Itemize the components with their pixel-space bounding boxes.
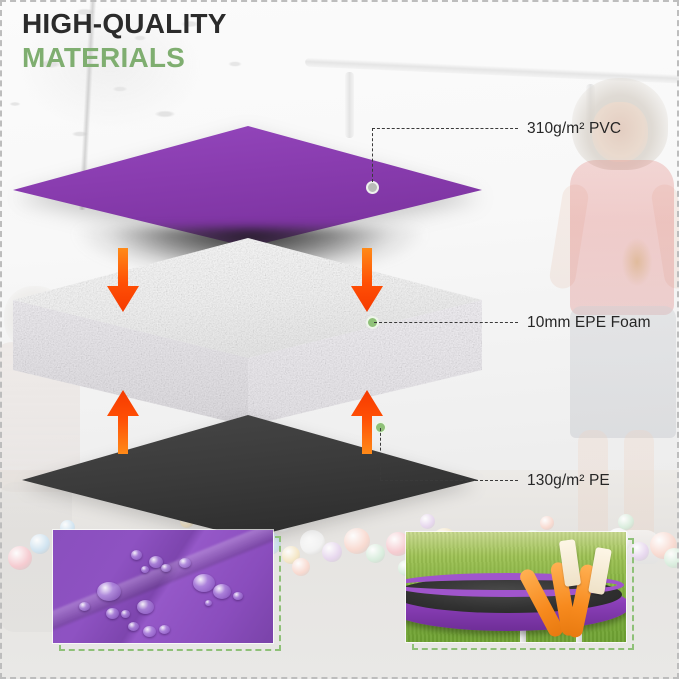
- arrow-up-left: [106, 388, 140, 454]
- callout-label-epe-foam: 10mm EPE Foam: [527, 314, 651, 332]
- water-droplet: [233, 592, 243, 600]
- inset-trampoline-photo: [405, 531, 627, 643]
- water-droplet: [79, 602, 90, 611]
- callout-marker-pvc: [366, 181, 379, 194]
- water-droplet: [106, 608, 119, 619]
- inset-fabric-photo: [52, 529, 274, 644]
- callout-leader-pe-vertical: [380, 428, 381, 480]
- callout-leader-pvc-horizontal: [372, 128, 518, 129]
- callout-leader-pvc-vertical: [372, 128, 373, 182]
- inset-waterproof-fabric: [52, 529, 274, 644]
- water-droplet: [213, 584, 231, 599]
- pe-sheet-shape: [22, 415, 478, 538]
- water-droplet: [143, 626, 156, 637]
- water-droplet: [141, 566, 149, 573]
- water-droplet: [205, 600, 212, 606]
- callout-leader-pe-horizontal: [380, 480, 518, 481]
- callout-leader-epe-foam: [374, 322, 518, 323]
- water-droplet: [128, 622, 139, 631]
- water-droplet: [179, 558, 191, 568]
- water-droplet: [131, 550, 142, 560]
- water-droplet: [97, 582, 121, 601]
- arrow-down-right: [350, 248, 384, 314]
- water-droplet: [159, 625, 170, 634]
- water-droplet: [121, 610, 130, 618]
- water-droplet: [161, 564, 171, 572]
- product-infographic: HIGH-QUALITY MATERIALS: [0, 0, 679, 679]
- arrow-down-left: [106, 248, 140, 314]
- water-droplet: [193, 574, 215, 592]
- water-droplet: [137, 600, 154, 614]
- callout-label-pe: 130g/m² PE: [527, 472, 610, 490]
- callout-label-pvc: 310g/m² PVC: [527, 120, 621, 138]
- inset-trampoline-pad: [405, 531, 627, 643]
